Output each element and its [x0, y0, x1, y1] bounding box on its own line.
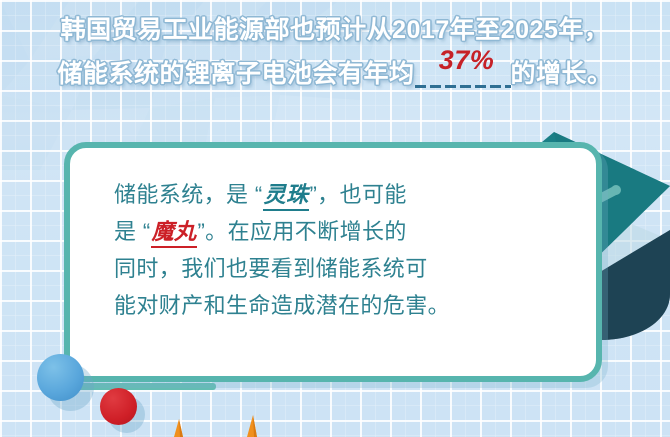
card-text-block: 储能系统，是 “灵珠”，也可能 是 “魔丸”。在应用不断增长的 同时，我们也要看… [114, 176, 574, 324]
card-line-1: 储能系统，是 “灵珠”，也可能 [114, 176, 574, 213]
orange-spike-left-icon [170, 414, 190, 437]
card-line-1-post: ”，也可能 [309, 182, 406, 207]
infographic-slide: 韩国贸易工业能源部也预计从2017年至2025年， 储能系统的锂离子电池会有年均… [0, 0, 670, 437]
blank-dash-rule [415, 85, 511, 88]
header-line-2: 储能系统的锂离子电池会有年均37%的增长。 [57, 52, 612, 96]
blue-dot [37, 354, 84, 401]
header-line-2-before: 储能系统的锂离子电池会有年均 [57, 60, 414, 88]
card-line-2: 是 “魔丸”。在应用不断增长的 [114, 213, 574, 250]
header-line-1: 韩国贸易工业能源部也预计从2017年至2025年， [0, 8, 670, 52]
card-line-4: 能对财产和生命造成潜在的危害。 [114, 287, 574, 324]
tassel-cord-anchor [611, 185, 621, 195]
card-line-2-pre: 是 “ [114, 219, 151, 244]
quote-card: 储能系统，是 “灵珠”，也可能 是 “魔丸”。在应用不断增长的 同时，我们也要看… [64, 142, 602, 382]
keyword-mowan: 魔丸 [151, 213, 198, 250]
header-line-2-after: 的增长。 [511, 60, 613, 88]
red-dot [100, 388, 137, 425]
card-line-2-post: ”。在应用不断增长的 [197, 219, 406, 244]
orange-spike-right-icon [242, 412, 262, 437]
header-block: 韩国贸易工业能源部也预计从2017年至2025年， 储能系统的锂离子电池会有年均… [0, 8, 670, 96]
card-line-3: 同时，我们也要看到储能系统可 [114, 250, 574, 287]
card-line-1-pre: 储能系统，是 “ [114, 182, 263, 207]
header-percent-highlight: 37% [435, 45, 499, 75]
keyword-lingzhu: 灵珠 [263, 176, 310, 213]
